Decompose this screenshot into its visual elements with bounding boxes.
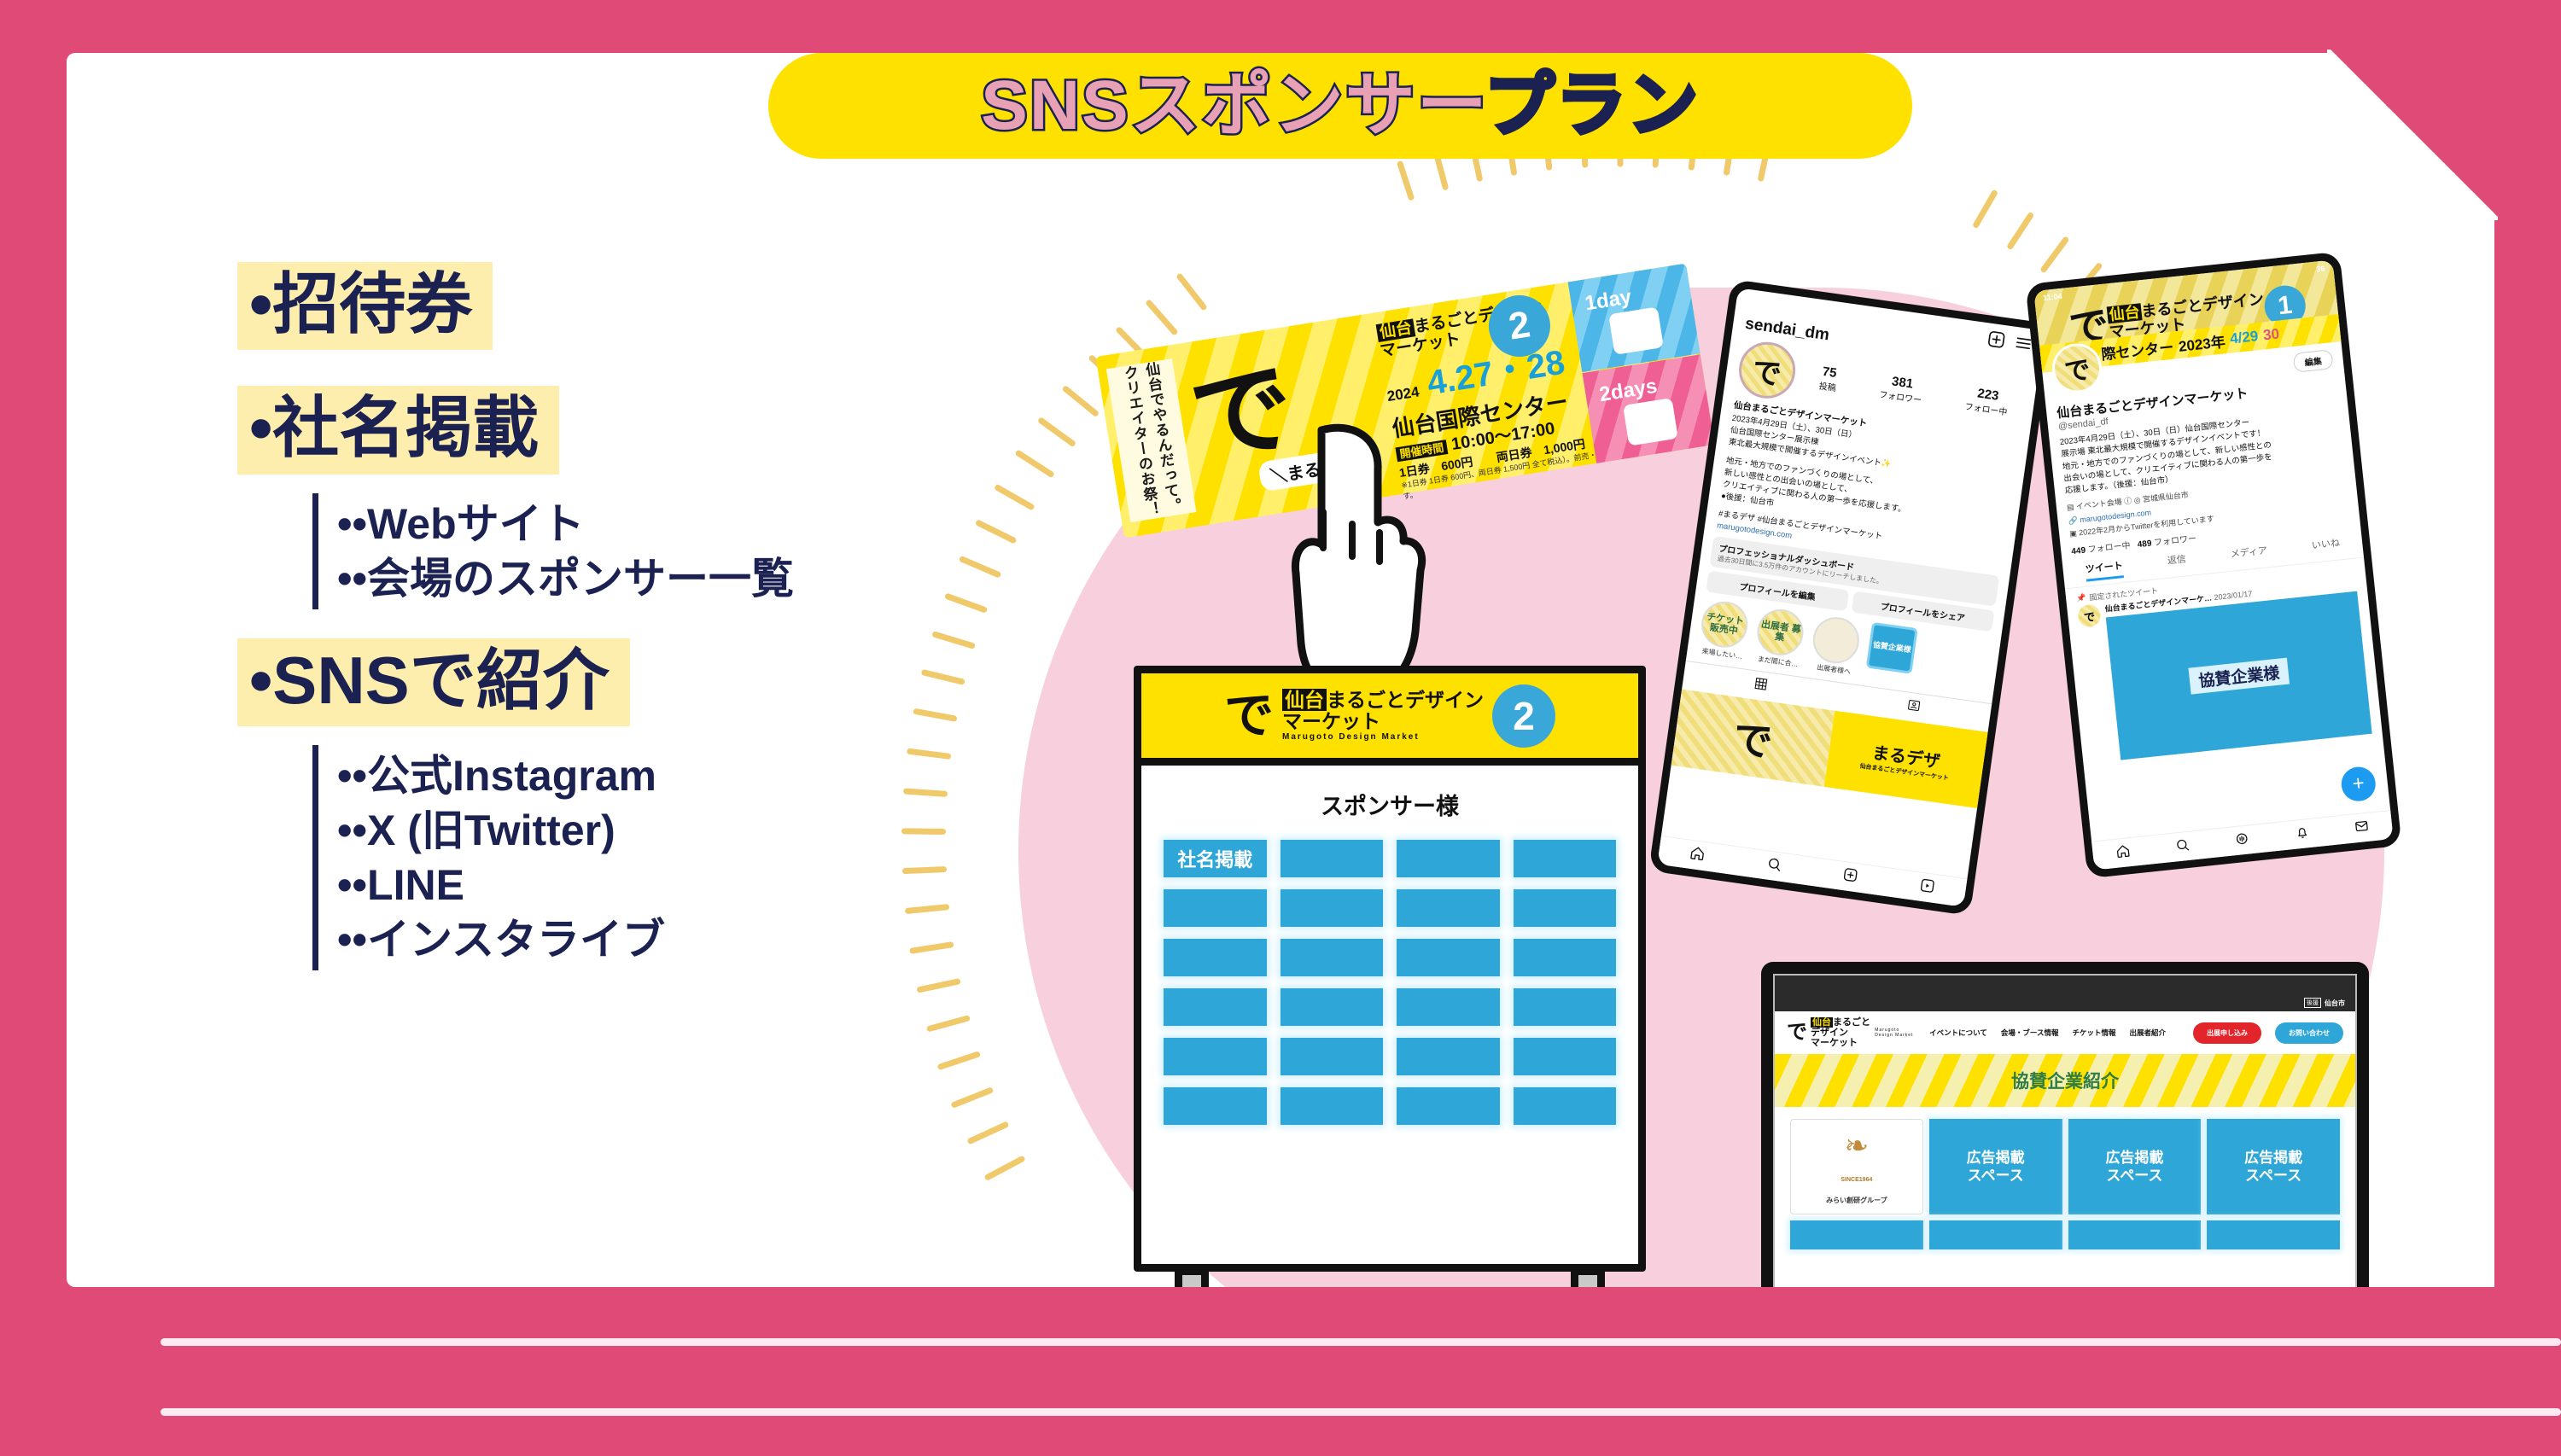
- nav-item-exhibitors[interactable]: 出展者紹介: [2129, 1028, 2166, 1038]
- highlight-tickets[interactable]: チケット 販売中 来場したい…: [1697, 598, 1754, 661]
- page-title: SNSスポンサープラン: [981, 71, 1700, 141]
- compose-tweet-fab[interactable]: +: [2340, 766, 2377, 803]
- site-logo-glyph: で: [1787, 1022, 1807, 1043]
- twitter-phone-mockup: 11:04 36 で 仙台まるごとデザイン マーケット 1 際センター 2023…: [2025, 252, 2401, 879]
- highlight-sponsors[interactable]: 協賛企業様: [1864, 622, 1922, 685]
- site-logo-brand: 仙台まるごとデザイン マーケット: [1811, 1017, 1871, 1048]
- following-count: 449: [2071, 546, 2086, 557]
- highlight-cover: 出展者 募集: [1754, 606, 1806, 658]
- board-sponsor-cell: [1514, 939, 1617, 976]
- plus-icon[interactable]: [1986, 330, 2006, 350]
- followers-label: フォロワー: [2154, 534, 2197, 548]
- accent-line-1: [160, 1338, 2561, 1346]
- tab-likes[interactable]: いいね: [2311, 536, 2341, 558]
- board-sponsor-cell: [1164, 1038, 1267, 1075]
- contact-button[interactable]: お問い合わせ: [2275, 1022, 2343, 1044]
- board-sponsor-cell: [1280, 988, 1384, 1026]
- ad-line2: スペース: [2106, 1167, 2162, 1185]
- ad-slot-card[interactable]: 広告掲載 スペース: [2207, 1119, 2340, 1214]
- board-brand-en: Marugoto Design Market: [1282, 732, 1484, 742]
- feature-sublist-company-name: •Webサイト •会場のスポンサー一覧: [312, 493, 989, 609]
- spaces-icon[interactable]: [2234, 830, 2250, 851]
- twitter-screen: 11:04 36 で 仙台まるごとデザイン マーケット 1 際センター 2023…: [2033, 259, 2393, 870]
- sublist-item: •公式Instagram: [337, 748, 989, 803]
- following-label: フォロー中: [2087, 541, 2131, 555]
- site-logo-en: Marugoto Design Market: [1875, 1028, 1916, 1039]
- sublist-item: •LINE: [337, 858, 989, 912]
- tweet-media-card[interactable]: 協賛企業様: [2106, 591, 2372, 760]
- banner-brand-line1: まるごとデザイン: [2140, 290, 2264, 320]
- highlight-label: 出展者様へ: [1809, 661, 1859, 678]
- dashed-ray: [1972, 189, 1998, 230]
- notifications-bell-icon[interactable]: [2294, 824, 2310, 845]
- tagged-view-icon[interactable]: [1905, 697, 1922, 717]
- search-icon[interactable]: [2174, 836, 2191, 857]
- pinned-tweet[interactable]: で 仙台まるごとデザインマーケ… 2023/01/17 協賛企業様: [2077, 577, 2372, 763]
- site-support-tag: 後援: [2304, 998, 2321, 1008]
- ticket-stub-2days: 2days: [1582, 354, 1714, 463]
- dashed-ray: [1397, 160, 1415, 201]
- location-pin-icon: ◎: [2133, 496, 2141, 505]
- board-sponsor-cell: [1280, 939, 1384, 976]
- title-banner: SNSスポンサープラン: [768, 53, 1912, 159]
- feature-label: •SNSで紹介: [249, 644, 610, 718]
- board-sponsor-cell: [1397, 939, 1500, 976]
- board-sponsor-cell: [1514, 1087, 1617, 1125]
- board-sponsor-cell: [1514, 1038, 1617, 1075]
- highlight-label: 来場したい…: [1697, 646, 1747, 662]
- grid-view-icon[interactable]: [1753, 676, 1769, 696]
- dashed-ray: [1014, 449, 1055, 478]
- nav-item-venue[interactable]: 会場・ブース情報: [2001, 1028, 2059, 1038]
- nav-item-tickets[interactable]: チケット情報: [2072, 1028, 2115, 1038]
- dashed-ray: [937, 1051, 982, 1071]
- board-sponsor-cell: [1397, 1087, 1500, 1125]
- stat-label: 投稿: [1818, 378, 1837, 393]
- ad-line1: 広告掲載: [1967, 1149, 2025, 1167]
- banner-year: 2023年: [2178, 329, 2226, 356]
- site-support-name: 仙台市: [2325, 999, 2345, 1008]
- ticket-stub-box: [1608, 306, 1664, 354]
- twitter-edit-profile-button[interactable]: 編集: [2293, 349, 2334, 373]
- feature-item-ticket: •招待券: [237, 262, 493, 350]
- board-sponsor-cell: [1164, 889, 1267, 927]
- feature-label: •社名掲載: [249, 391, 539, 465]
- board-sponsor-cell: [1397, 840, 1500, 877]
- feature-item-company-name: •社名掲載: [237, 386, 559, 474]
- dashed-ray: [2006, 212, 2034, 251]
- site-utility-bar: 後援 仙台市: [1775, 976, 2355, 1011]
- tab-media[interactable]: メディア: [2230, 544, 2268, 567]
- link-icon: 🔗: [2068, 515, 2078, 525]
- instagram-avatar[interactable]: で: [1736, 339, 1800, 403]
- tweet-card-label: 協賛企業様: [2189, 657, 2290, 694]
- dashed-ray: [951, 1086, 995, 1109]
- ad-line2: スペース: [1968, 1167, 2024, 1185]
- site-logo[interactable]: で 仙台まるごとデザイン マーケット Marugoto Design Marke…: [1787, 1017, 1916, 1048]
- board-title: スポンサー様: [1141, 788, 1638, 821]
- instagram-stat-followers[interactable]: 381 フォロワー: [1879, 373, 1925, 406]
- dashed-ray: [994, 484, 1035, 511]
- highlight-cover: [1810, 614, 1862, 667]
- highlight-for-exhibitors[interactable]: 出展者様へ: [1809, 614, 1866, 678]
- sponsor-card-logo[interactable]: ❧ SINCE1964 みらい創研グループ: [1790, 1119, 1923, 1214]
- ticket-stub-box: [1623, 398, 1678, 446]
- tab-replies[interactable]: 返信: [2167, 552, 2187, 574]
- board-brand: 仙台まるごとデザイン マーケット Marugoto Design Market: [1282, 690, 1484, 743]
- board-logo-glyph: で: [1224, 691, 1274, 741]
- feature-item-sns: •SNSで紹介: [237, 638, 630, 726]
- highlight-cover: チケット 販売中: [1699, 598, 1751, 650]
- site-navigation: で 仙台まるごとデザイン マーケット Marugoto Design Marke…: [1775, 1011, 2355, 1054]
- ad-line1: 広告掲載: [2105, 1149, 2163, 1167]
- board-sponsor-cell: [1514, 840, 1617, 877]
- highlight-label: まだ間に合…: [1753, 654, 1803, 670]
- board-sponsor-cell: [1164, 988, 1267, 1026]
- followers-count: 489: [2137, 539, 2152, 550]
- instagram-stat-following[interactable]: 223 フォロー中: [1964, 385, 2010, 418]
- ad-line1: 広告掲載: [2244, 1149, 2302, 1167]
- board-brand-line1: まるごとデザイン: [1327, 689, 1484, 711]
- board-sponsor-cell: [1280, 840, 1384, 877]
- ticket-year: 2024: [1386, 383, 1421, 405]
- title-part-pink: SNSスポンサー: [981, 67, 1485, 144]
- sponsor-name: みらい創研グループ: [1826, 1197, 1887, 1205]
- ticket-stub-1day: 1day: [1568, 264, 1701, 373]
- sponsor-board: で 仙台まるごとデザイン マーケット Marugoto Design Marke…: [1134, 666, 1646, 1366]
- banner-venue: 際センター: [2100, 335, 2174, 364]
- feature-list: •招待券 •社名掲載 •Webサイト •会場のスポンサー一覧 •SNSで紹介 •…: [237, 262, 989, 999]
- site-logo-l2: マーケット: [1811, 1038, 1858, 1048]
- board-sponsor-cell: [1280, 1038, 1384, 1075]
- sponsor-since: SINCE1964: [1841, 1177, 1872, 1185]
- board-cell-label: 社名掲載: [1177, 845, 1252, 872]
- nav-item-about[interactable]: イベントについて: [1929, 1028, 1987, 1038]
- board-brand-badge: 仙台: [1282, 689, 1327, 711]
- ad-slot-card[interactable]: [1929, 1220, 2062, 1249]
- ad-slot-card[interactable]: [2068, 1220, 2202, 1249]
- pin-icon: 📌: [2076, 593, 2086, 603]
- dashed-ray: [926, 1015, 971, 1032]
- feature-label: •招待券: [249, 267, 472, 341]
- board-sponsor-cell: [1164, 939, 1267, 976]
- calendar-icon: ▣: [2069, 528, 2078, 538]
- poster-frame: •招待券 •社名掲載 •Webサイト •会場のスポンサー一覧 •SNSで紹介 •…: [0, 0, 2561, 1456]
- dashed-ray: [1037, 416, 1076, 447]
- ticket-side-text: 仙台でやるんだって。クリエイターのお祭！: [1117, 360, 1185, 521]
- board-sponsor-grid: 社名掲載: [1141, 821, 1638, 1125]
- board-sponsor-cell: [1514, 988, 1617, 1026]
- reels-icon[interactable]: [1918, 877, 1936, 899]
- site-logo-badge: 仙台: [1811, 1017, 1833, 1028]
- dashed-ray: [1175, 273, 1208, 312]
- title-part-navy: プラン: [1485, 67, 1700, 144]
- board-sponsor-cell: 社名掲載: [1164, 840, 1267, 877]
- ad-slot-card[interactable]: 広告掲載 スペース: [1929, 1119, 2062, 1214]
- meta-place: 宮城県仙台市: [2142, 491, 2189, 504]
- ad-line2: スペース: [2245, 1167, 2301, 1185]
- home-icon[interactable]: [2115, 843, 2131, 864]
- banner-date1: 4/29: [2229, 328, 2259, 347]
- board-brand-line2: マーケット: [1282, 710, 1380, 732]
- status-bar-battery: 36: [2316, 264, 2325, 273]
- ad-slot-card[interactable]: 広告掲載 スペース: [2068, 1119, 2202, 1214]
- board-sponsor-cell: [1280, 1087, 1384, 1125]
- laptop-lid: 後援 仙台市 で 仙台まるごとデザイン マーケット Marugoto Desig…: [1761, 962, 2369, 1320]
- feature-sublist-sns: •公式Instagram •X (旧Twitter) •LINE •インスタライ…: [312, 745, 989, 970]
- tweet-avatar: で: [2077, 603, 2102, 628]
- bottom-accent-band: [67, 1287, 2561, 1456]
- tab-tweets[interactable]: ツイート: [2085, 558, 2124, 581]
- board-sponsor-cell: [1397, 1038, 1500, 1075]
- sponsor-card-grid: ❧ SINCE1964 みらい創研グループ 広告掲載 スペース 広告掲載 スペー…: [1775, 1107, 2355, 1214]
- sublist-item: •X (旧Twitter): [337, 803, 989, 858]
- board-panel: で 仙台まるごとデザイン マーケット Marugoto Design Marke…: [1134, 666, 1646, 1272]
- highlight-cover: 協賛企業様: [1866, 622, 1918, 674]
- board-sponsor-cell: [1280, 889, 1384, 927]
- hand-illustration: [1270, 420, 1432, 702]
- poster-card: •招待券 •社名掲載 •Webサイト •会場のスポンサー一覧 •SNSで紹介 •…: [67, 53, 2494, 1287]
- board-sponsor-cell: [1397, 988, 1500, 1026]
- board-volume-badge: 2: [1492, 684, 1555, 748]
- banner-date2: 30: [2262, 326, 2280, 345]
- accent-line-2: [160, 1408, 2561, 1416]
- instagram-stat-posts[interactable]: 75 投稿: [1818, 364, 1839, 393]
- website-screen: 後援 仙台市 で 仙台まるごとデザイン マーケット Marugoto Desig…: [1773, 974, 2357, 1308]
- highlight-exhibitors[interactable]: 出展者 募集 まだ間に合…: [1753, 606, 1810, 669]
- dashed-ray: [984, 1155, 1026, 1181]
- dashed-ray: [966, 1121, 1009, 1145]
- messages-envelope-icon[interactable]: [2354, 818, 2370, 838]
- board-sponsor-cell: [1164, 1087, 1267, 1125]
- sublist-item: •インスタライブ: [337, 912, 989, 967]
- folded-corner: [2332, 53, 2494, 215]
- ad-slot-card[interactable]: [1790, 1220, 1923, 1249]
- briefcase-icon: ▤: [2067, 503, 2075, 512]
- sponsor-logo-mark-icon: ❧: [1845, 1128, 1870, 1165]
- dashed-ray: [1061, 385, 1100, 417]
- apply-button[interactable]: 出展申し込み: [2193, 1022, 2261, 1044]
- site-section-banner: 協賛企業紹介: [1775, 1054, 2355, 1107]
- tweet-date: 2023/01/17: [2214, 590, 2253, 603]
- create-post-icon[interactable]: [1841, 866, 1859, 888]
- home-icon[interactable]: [1689, 845, 1706, 866]
- sublist-item: •Webサイト: [337, 497, 989, 551]
- search-icon[interactable]: [1765, 855, 1783, 877]
- board-header: で 仙台まるごとデザイン マーケット Marugoto Design Marke…: [1141, 673, 1638, 766]
- board-sponsor-cell: [1397, 889, 1500, 927]
- sublist-item: •会場のスポンサー一覧: [337, 551, 989, 606]
- dashed-ray: [2039, 236, 2069, 273]
- ad-slot-card[interactable]: [2207, 1220, 2340, 1249]
- sponsor-card-grid-row2: [1775, 1214, 2355, 1249]
- dashed-ray: [1145, 299, 1179, 336]
- board-sponsor-cell: [1514, 889, 1617, 927]
